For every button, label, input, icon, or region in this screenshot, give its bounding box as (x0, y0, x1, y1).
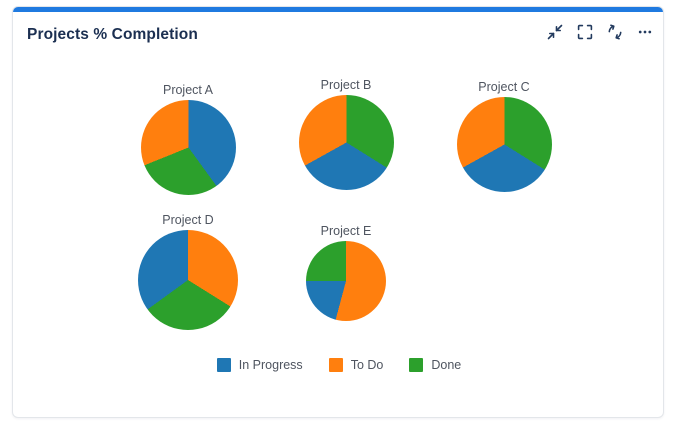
legend-swatch-icon (329, 358, 343, 372)
legend-label: To Do (351, 358, 384, 372)
pie-chart-project-a: Project A (123, 83, 253, 195)
chart-legend: In Progress To Do Done (13, 358, 664, 372)
page-title: Projects % Completion (27, 26, 198, 44)
pie-disc[interactable] (141, 100, 236, 195)
legend-item-done[interactable]: Done (409, 358, 461, 372)
panel-header: Projects % Completion (13, 12, 664, 58)
panel-action-bar (547, 24, 653, 40)
collapse-icon[interactable] (547, 24, 563, 40)
pie-title: Project A (123, 83, 253, 97)
more-options-icon[interactable] (637, 24, 653, 40)
pie-title: Project D (123, 213, 253, 227)
pie-chart-project-e: Project E (281, 224, 411, 321)
pie-disc[interactable] (306, 241, 386, 321)
legend-item-to-do[interactable]: To Do (329, 358, 384, 372)
pie-title: Project C (439, 80, 569, 94)
pie-title: Project B (281, 78, 411, 92)
pie-chart-grid: Project A Project B Project C Project D … (13, 58, 664, 418)
pie-chart-project-c: Project C (439, 80, 569, 192)
pie-disc[interactable] (457, 97, 552, 192)
pie-disc[interactable] (138, 230, 238, 330)
pie-title: Project E (281, 224, 411, 238)
pie-chart-project-d: Project D (123, 213, 253, 330)
legend-swatch-icon (217, 358, 231, 372)
refresh-icon[interactable] (607, 24, 623, 40)
pie-chart-project-b: Project B (281, 78, 411, 190)
fullscreen-icon[interactable] (577, 24, 593, 40)
chart-panel-card: Projects % Completion (12, 6, 664, 418)
legend-swatch-icon (409, 358, 423, 372)
legend-item-in-progress[interactable]: In Progress (217, 358, 303, 372)
legend-label: Done (431, 358, 461, 372)
legend-label: In Progress (239, 358, 303, 372)
pie-disc[interactable] (299, 95, 394, 190)
